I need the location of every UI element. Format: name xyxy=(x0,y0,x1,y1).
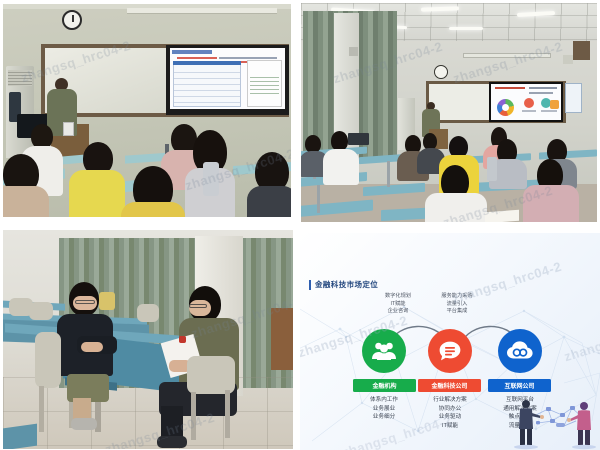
chair-leg xyxy=(191,392,196,440)
slide-title-group: 金融科技市场定位 xyxy=(309,279,378,290)
people-group-icon xyxy=(371,341,397,361)
student-body xyxy=(69,170,125,217)
chat-bubble-icon xyxy=(438,340,462,362)
node-fintech-company[interactable] xyxy=(428,329,472,373)
slide-text-line xyxy=(529,87,557,89)
wall-poster xyxy=(565,83,582,113)
chair xyxy=(187,356,235,394)
paper-marker xyxy=(179,336,186,343)
chip-icon xyxy=(524,98,534,108)
annotation-line: 企业咨询 xyxy=(368,308,428,316)
person-right-shoe xyxy=(157,436,187,448)
bullets-fintech-company: 行业解决方案 协同办公 业务驱动 IT赋能 xyxy=(412,396,488,430)
plant-pot xyxy=(99,292,115,310)
slide-caption xyxy=(522,110,536,112)
wall-clock-icon xyxy=(434,65,448,79)
bullet-item: IT赋能 xyxy=(412,422,488,431)
chair-leg xyxy=(39,386,44,432)
annotation-left-flow: 数字化规划 IT赋能 企业咨询 xyxy=(368,293,428,316)
student-body xyxy=(323,149,359,185)
thermos-bottle xyxy=(487,157,497,181)
student-body xyxy=(121,202,185,217)
eyeglasses-icon xyxy=(189,304,207,308)
wooden-cabinet xyxy=(271,308,293,370)
title-accent-bar xyxy=(309,280,311,290)
slide-table-header xyxy=(173,61,241,65)
person-left-hands xyxy=(81,342,103,352)
annotation-line: 平台集成 xyxy=(427,308,487,316)
instructor-paper xyxy=(63,122,74,136)
annotation-right-flow: 服务能力采购 流量引入 平台集成 xyxy=(427,293,487,316)
two-person-network-illustration xyxy=(514,395,600,450)
bullet-item: 体系内工作 xyxy=(346,396,422,405)
bullets-financial-institutions: 体系内工作 业务展业 业务细分 xyxy=(346,396,422,422)
slide-red-text xyxy=(177,57,217,59)
annotation-line: 数字化规划 xyxy=(368,293,428,301)
document-text xyxy=(250,74,279,96)
person-right-face xyxy=(189,300,211,316)
wall-clock-icon xyxy=(62,10,82,30)
tag-fintech-company[interactable]: 金融科技公司 xyxy=(418,379,481,392)
ceiling-lamp xyxy=(449,27,483,30)
chair xyxy=(29,302,53,320)
chair xyxy=(35,332,61,388)
student-body xyxy=(247,186,291,217)
chair-leg xyxy=(225,390,230,438)
bullet-item: 业务展业 xyxy=(346,405,422,414)
laptop xyxy=(348,133,369,145)
photo-collage-grid: zhangsq_hrc04-2 zhangsq_hrc04-2 xyxy=(0,0,600,450)
bullet-item: 业务细分 xyxy=(346,413,422,422)
bullet-item: 业务驱动 xyxy=(412,413,488,422)
cloud-infinity-icon xyxy=(506,340,534,362)
node-internet-company[interactable] xyxy=(498,329,542,373)
desk-leg xyxy=(387,161,390,187)
person-left-shoe xyxy=(71,418,97,430)
bullet-item: 协同办公 xyxy=(412,405,488,414)
ceiling-strip xyxy=(127,8,277,14)
foreground-desk xyxy=(3,424,37,449)
student-head xyxy=(331,131,348,151)
wall-switch xyxy=(563,55,573,64)
pie-chart-icon xyxy=(497,99,514,116)
thermos-bottle xyxy=(203,162,219,196)
student-body xyxy=(3,186,49,217)
chip-icon xyxy=(550,100,559,109)
panel-fintech-positioning-slide: 金融科技市场定位 数字化规划 IT赋能 企业咨询 服务能力采购 流量引入 平台集… xyxy=(300,233,600,450)
slide-text-line xyxy=(219,57,277,59)
slide-title-line xyxy=(495,87,525,89)
node-financial-institutions[interactable] xyxy=(362,329,406,373)
slide-caption xyxy=(541,110,557,112)
eyeglasses-icon xyxy=(75,300,95,304)
paper-documents xyxy=(485,210,519,222)
student-body xyxy=(425,193,487,222)
bullet-item: 行业解决方案 xyxy=(412,396,488,405)
wall-sensor xyxy=(349,47,358,56)
figure-person-left xyxy=(514,400,544,449)
panel-lecture-hall-presentation: zhangsq_hrc04-2 zhangsq_hrc04-2 xyxy=(3,4,291,217)
slide-table-rows xyxy=(174,67,240,106)
slide-header-bar xyxy=(172,50,212,54)
tag-internet-company[interactable]: 互联网公司 xyxy=(488,379,551,392)
slide-text-line xyxy=(529,92,553,94)
tag-financial-institutions[interactable]: 金融机构 xyxy=(353,379,416,392)
panel-interview-two-people: zhangsq_hrc04-2 zhangsq_hrc04-2 xyxy=(3,230,293,449)
ac-vent xyxy=(8,70,32,86)
chair xyxy=(137,304,159,322)
ceiling-strip xyxy=(463,53,551,58)
panel-classroom-wide-lecture: zhangsq_hrc04-2 zhangsq_hrc04-2 zhangsq_… xyxy=(301,3,597,222)
slide-title: 金融科技市场定位 xyxy=(315,279,378,290)
student-body xyxy=(523,185,579,222)
wall-speaker xyxy=(573,41,590,60)
annotation-line: 服务能力采购 xyxy=(427,293,487,301)
desk-leg xyxy=(317,185,320,213)
